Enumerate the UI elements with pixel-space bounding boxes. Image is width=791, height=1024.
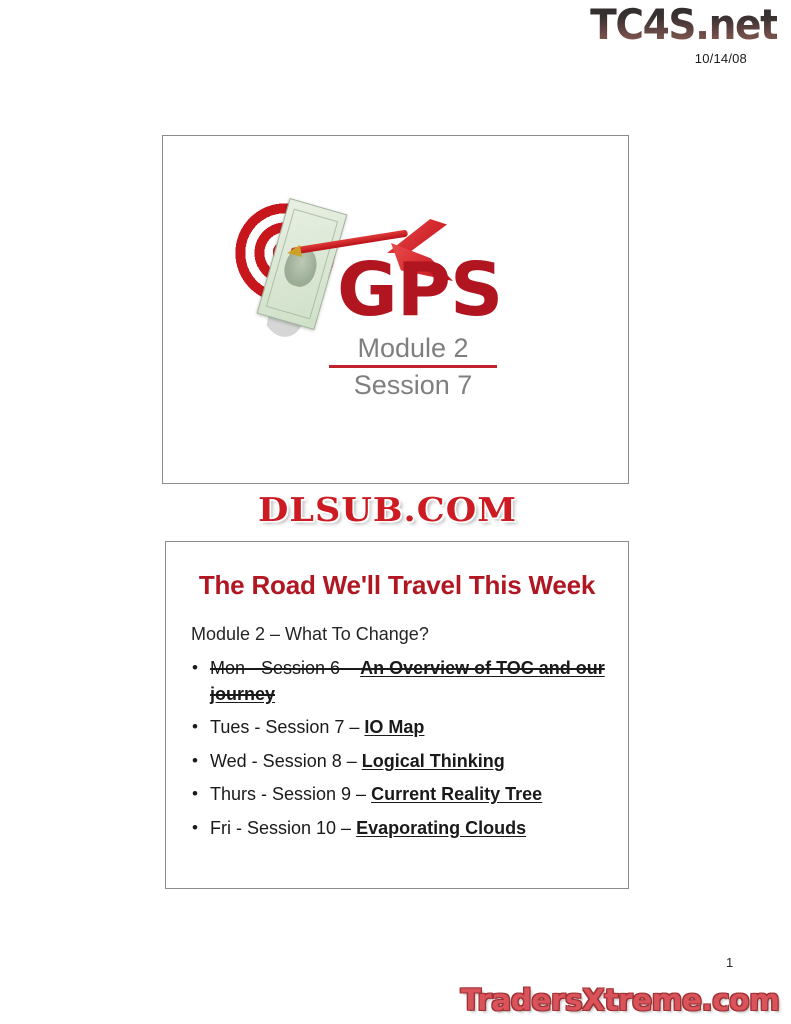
- agenda-item-day: Mon - Session 6 –: [210, 658, 360, 678]
- session-label: Session 7: [329, 370, 497, 401]
- dlsub-watermark: DLSUB.COM: [258, 490, 517, 529]
- title-slide: GPS Module 2 Session 7: [162, 135, 629, 484]
- agenda-item-topic: Evaporating Clouds: [356, 818, 526, 838]
- agenda-item-topic: Logical Thinking: [362, 751, 505, 771]
- page-header: TC4S.net 10/14/08: [477, 0, 777, 66]
- agenda-title: The Road We'll Travel This Week: [166, 570, 628, 601]
- agenda-slide: The Road We'll Travel This Week Module 2…: [165, 541, 629, 889]
- gps-wordmark: GPS: [337, 253, 502, 327]
- agenda-item: Thurs - Session 9 – Current Reality Tree: [188, 782, 614, 808]
- agenda-item: Tues - Session 7 – IO Map: [188, 715, 614, 741]
- agenda-item: Fri - Session 10 – Evaporating Clouds: [188, 816, 614, 842]
- tradersxtreme-brand-logo: TradersXtreme.com: [460, 983, 779, 1017]
- agenda-item: Mon - Session 6 – An Overview of TOC and…: [188, 656, 614, 707]
- page-number: 1: [726, 955, 733, 970]
- header-date: 10/14/08: [477, 51, 747, 66]
- agenda-subhead: Module 2 – What To Change?: [191, 624, 429, 645]
- agenda-item-topic: IO Map: [364, 717, 424, 737]
- agenda-item-day: Tues - Session 7 –: [210, 717, 364, 737]
- agenda-item-day: Thurs - Session 9 –: [210, 784, 371, 804]
- agenda-list: Mon - Session 6 – An Overview of TOC and…: [188, 656, 614, 849]
- module-label: Module 2: [329, 333, 497, 364]
- agenda-item-topic: Current Reality Tree: [371, 784, 542, 804]
- dart-tip-icon: [286, 245, 302, 259]
- logo-subtitle: Module 2 Session 7: [329, 333, 497, 401]
- tc4s-brand-logo: TC4S.net: [590, 0, 777, 46]
- gps-logo: GPS Module 2 Session 7: [225, 191, 555, 441]
- subtitle-divider: [329, 365, 497, 368]
- agenda-item: Wed - Session 8 – Logical Thinking: [188, 749, 614, 775]
- agenda-item-day: Fri - Session 10 –: [210, 818, 356, 838]
- agenda-item-day: Wed - Session 8 –: [210, 751, 362, 771]
